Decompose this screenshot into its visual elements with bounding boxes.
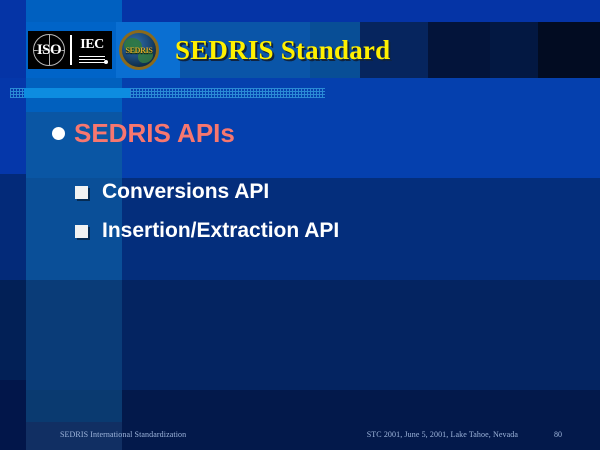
iec-bars-icon <box>79 54 105 63</box>
sedris-globe-icon: SEDRIS <box>119 30 159 70</box>
iec-dot-icon <box>104 60 108 64</box>
logo-divider <box>70 35 72 65</box>
sedris-logo-label: SEDRIS <box>125 46 152 55</box>
iec-mark-icon: IEC <box>74 32 110 68</box>
header-strip-1 <box>0 22 26 78</box>
square-bullet-icon <box>75 186 88 199</box>
footer-page-number: 80 <box>554 430 562 439</box>
decorative-rule-solid <box>24 88 130 98</box>
header-strip-9 <box>538 22 600 78</box>
header-strip-7 <box>428 22 490 78</box>
page-title: SEDRIS Standard <box>175 30 390 70</box>
left-column-segment-f <box>26 390 122 422</box>
logo-row: ISO IEC SEDRIS <box>28 30 159 70</box>
bullet-level2-insertion-extraction-api: Insertion/Extraction API <box>75 219 339 243</box>
bullet-level1-label: SEDRIS APIs <box>74 118 235 149</box>
footer-left-text: SEDRIS International Standardization <box>60 430 186 439</box>
bullet-level2-conversions-api: Conversions API <box>75 180 269 204</box>
left-accent-band-2 <box>0 174 26 280</box>
header-strip-8 <box>490 22 538 78</box>
decorative-rule <box>10 88 325 98</box>
iec-label: IEC <box>80 38 103 52</box>
left-accent-band-3 <box>0 280 26 380</box>
iso-label: ISO <box>37 42 61 59</box>
bullet-level2-label: Conversions API <box>102 180 269 204</box>
iso-iec-logo: ISO IEC <box>28 31 112 69</box>
round-bullet-icon <box>52 127 65 140</box>
left-column-segment-e <box>26 280 122 390</box>
left-column-segment-a <box>26 0 122 22</box>
bullet-level1: SEDRIS APIs <box>52 118 235 149</box>
slide: ISO IEC SEDRIS SEDRIS Standard SEDRIS AP… <box>0 0 600 450</box>
left-accent-band-4 <box>0 380 26 450</box>
iso-globe-icon: ISO <box>30 32 68 68</box>
footer-right-text: STC 2001, June 5, 2001, Lake Tahoe, Neva… <box>367 430 518 439</box>
bullet-level2-label: Insertion/Extraction API <box>102 219 339 243</box>
square-bullet-icon <box>75 225 88 238</box>
